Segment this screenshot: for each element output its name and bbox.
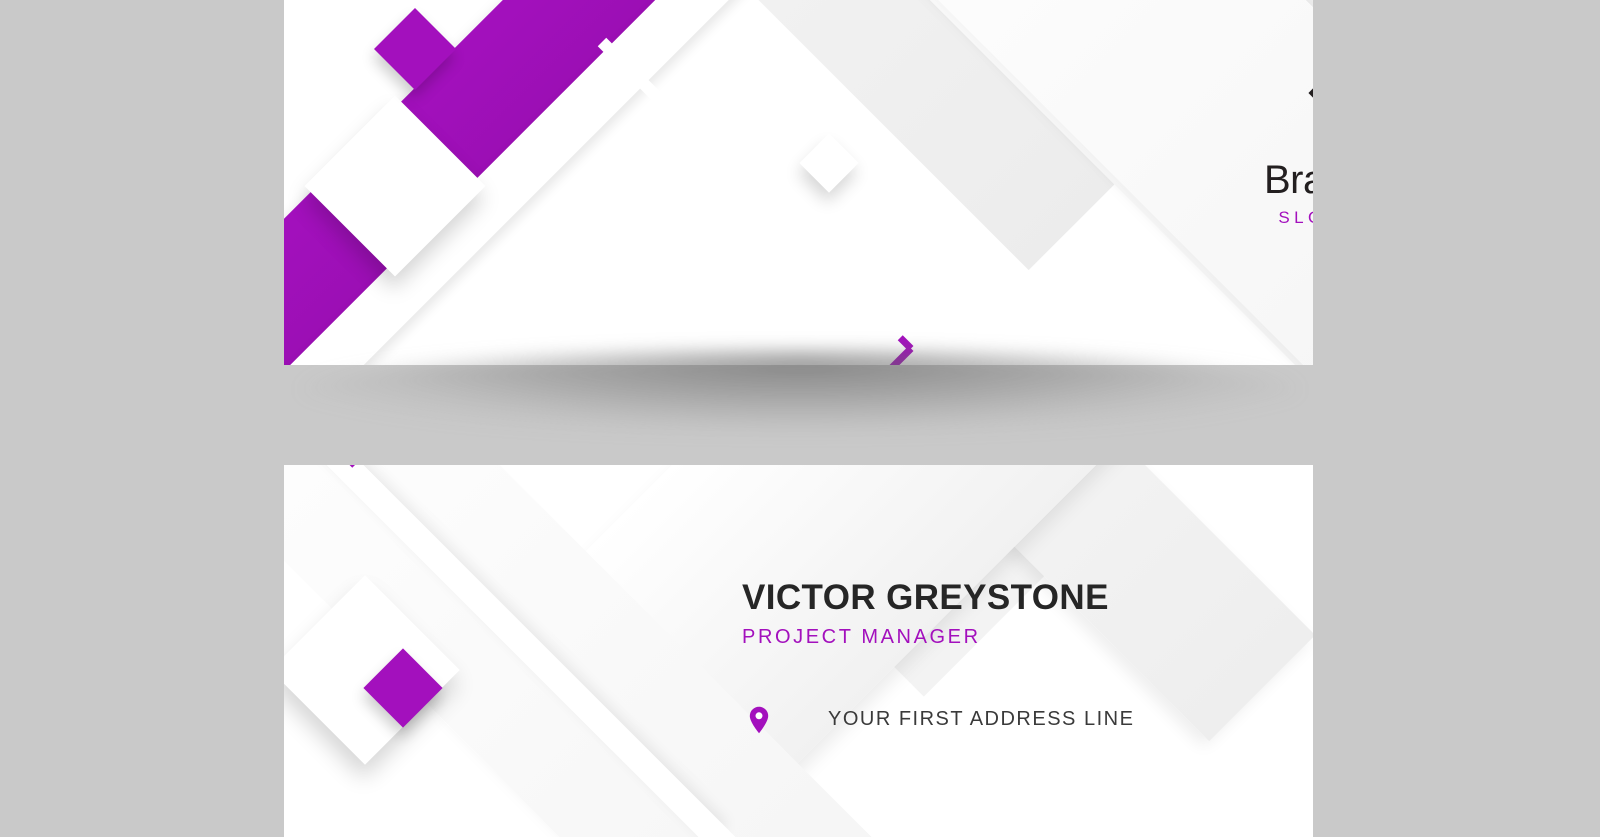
contact-list: YOUR FIRST ADDRESS LINE: [742, 703, 1134, 737]
brand-logo-lockup: BrandLogo SLOGAN HERE: [1184, 42, 1313, 228]
business-card-front: BrandLogo SLOGAN HERE: [284, 0, 1313, 365]
person-name: VICTOR GREYSTONE: [742, 580, 1134, 617]
brand-word-light: Brand: [1264, 158, 1313, 202]
contact-info-block: VICTOR GREYSTONE PROJECT MANAGER YOUR FI…: [742, 580, 1134, 737]
contact-row-address[interactable]: YOUR FIRST ADDRESS LINE: [742, 703, 1134, 737]
logo-outer-diamond: [1308, 36, 1313, 149]
card-drop-shadow: [300, 352, 1300, 430]
person-role: PROJECT MANAGER: [742, 626, 1134, 649]
business-card-back: VICTOR GREYSTONE PROJECT MANAGER YOUR FI…: [284, 465, 1313, 837]
front-card-artwork: [284, 0, 1313, 365]
contact-address-text: YOUR FIRST ADDRESS LINE: [828, 708, 1134, 731]
brand-slogan: SLOGAN HERE: [1184, 208, 1313, 228]
location-pin-icon: [742, 706, 776, 734]
business-card-mockup: BrandLogo SLOGAN HERE VICTOR: [0, 0, 1600, 800]
white-diamond-small: [799, 133, 858, 192]
brand-logo-wordmark: BrandLogo: [1184, 160, 1313, 200]
